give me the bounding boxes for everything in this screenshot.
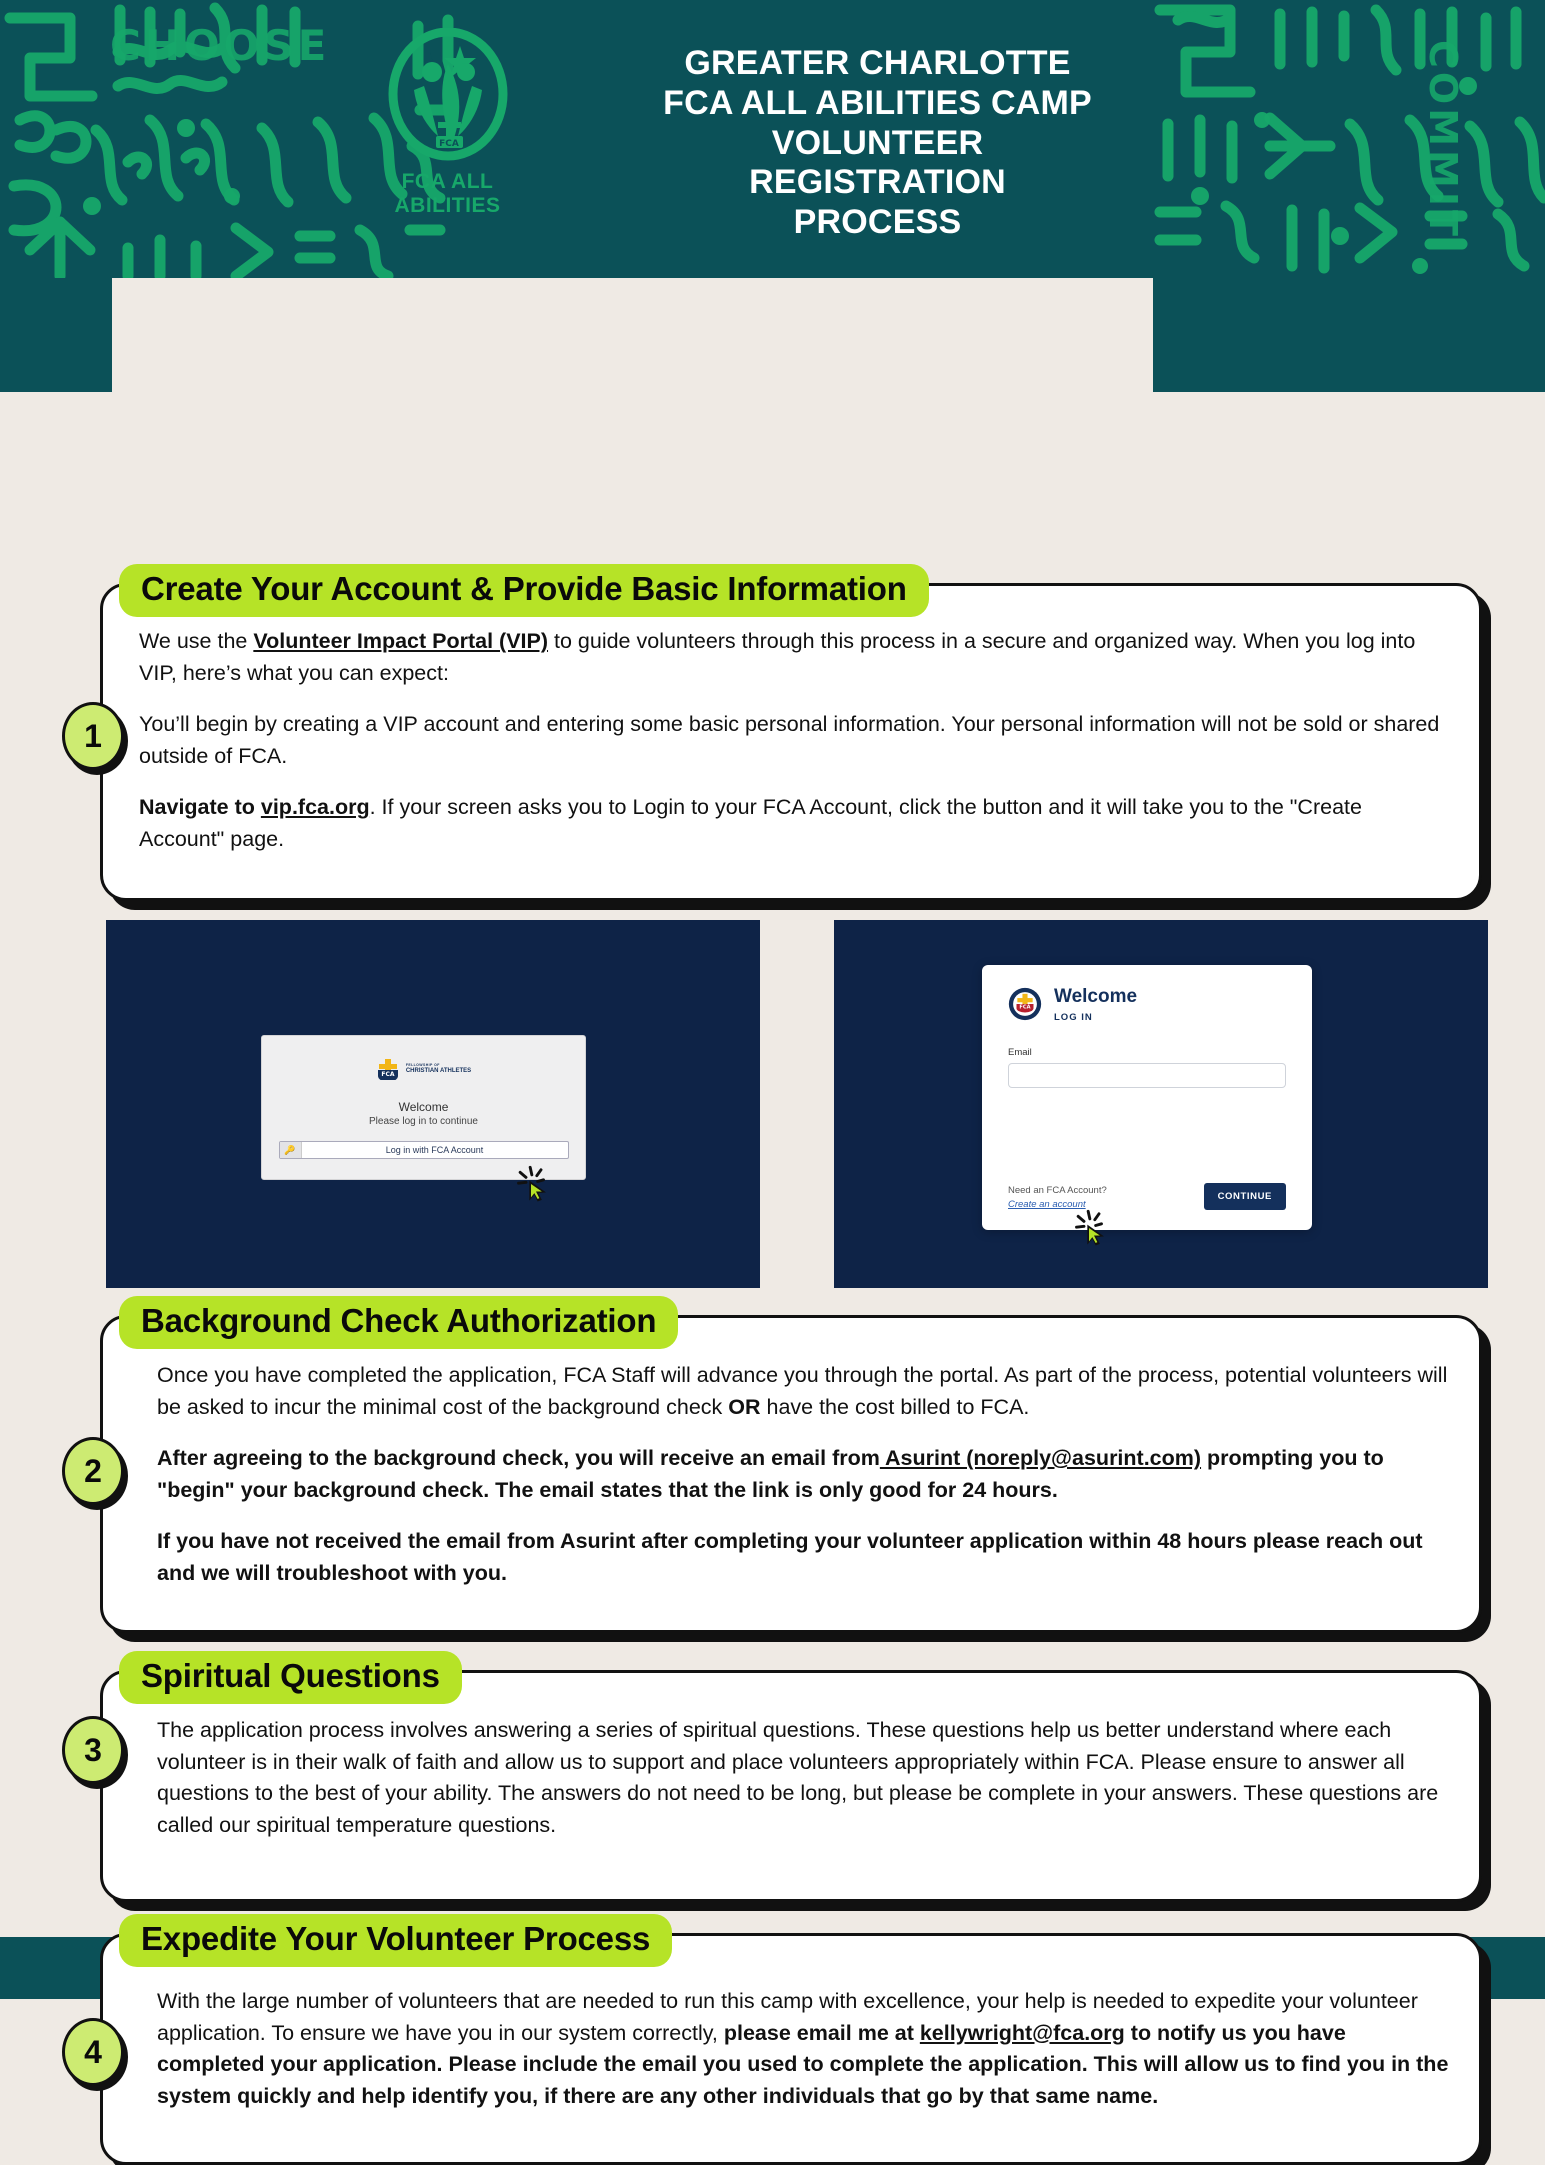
step-2-body: Once you have completed the application,… [103, 1318, 1479, 1612]
fca-login-footer: Need an FCA Account? Create an account C… [1008, 1183, 1286, 1210]
title-line-4: REGISTRATION [558, 163, 1198, 203]
screenshot-fca-account-login: FCA Welcome LOG IN Email Need an FCA Acc… [834, 920, 1488, 1288]
vip-welcome-subtitle: Please log in to continue [369, 1116, 478, 1127]
fca-login-subtitle: LOG IN [1054, 1012, 1137, 1023]
email-input[interactable] [1008, 1063, 1286, 1088]
step-2-paragraph-3: If you have not received the email from … [157, 1526, 1449, 1589]
fca-seal-icon: FCA [1008, 987, 1042, 1021]
key-icon: 🔑 [280, 1142, 302, 1158]
step-2-title: Background Check Authorization [119, 1296, 678, 1349]
page-title: GREATER CHARLOTTE FCA ALL ABILITIES CAMP… [558, 18, 1198, 243]
email-label: Email [1008, 1047, 1286, 1058]
step-card-3: Spiritual Questions The application proc… [100, 1670, 1482, 1902]
step-3-paragraph-1: The application process involves answeri… [157, 1715, 1449, 1841]
step-badge-4: 4 [62, 2018, 124, 2086]
step-1-paragraph-1: We use the Volunteer Impact Portal (VIP)… [139, 626, 1449, 689]
login-button-label: Log in with FCA Account [302, 1145, 568, 1155]
fca-login-welcome: Welcome [1054, 987, 1137, 1006]
step-1-paragraph-3: Navigate to vip.fca.org. If your screen … [139, 792, 1449, 855]
step-1-paragraph-2: You’ll begin by creating a VIP account a… [139, 709, 1449, 772]
fca-logo-small-text: FELLOWSHIP OF CHRISTIAN ATHLETES [406, 1063, 471, 1074]
step-1-title: Create Your Account & Provide Basic Info… [119, 564, 929, 617]
step-2-paragraph-1: Once you have completed the application,… [157, 1360, 1449, 1423]
step-2-paragraph-2: After agreeing to the background check, … [157, 1443, 1449, 1506]
step-1-body: We use the Volunteer Impact Portal (VIP)… [103, 586, 1479, 878]
fca-login-card: FCA Welcome LOG IN Email Need an FCA Acc… [982, 965, 1312, 1230]
logo-wordmark: FCA ALL ABILITIES [348, 170, 548, 218]
fca-login-header: FCA Welcome LOG IN [1008, 987, 1286, 1023]
step-4-title: Expedite Your Volunteer Process [119, 1914, 672, 1967]
need-account-text: Need an FCA Account? [1008, 1185, 1107, 1196]
page-header: CHOOSE COMMIT FCA FCA AL [0, 0, 1545, 278]
step-badge-1: 1 [62, 702, 124, 770]
step-card-4: Expedite Your Volunteer Process With the… [100, 1933, 1482, 2165]
step-3-title: Spiritual Questions [119, 1651, 462, 1704]
fca-logo-small-main: CHRISTIAN ATHLETES [406, 1068, 471, 1074]
title-line-1: GREATER CHARLOTTE [558, 44, 1198, 84]
svg-text:FCA: FCA [439, 139, 459, 149]
title-line-2: FCA ALL ABILITIES CAMP [558, 84, 1198, 124]
vip-welcome-heading: Welcome [399, 1100, 449, 1114]
step-badge-2: 2 [62, 1437, 124, 1505]
header-teal-extension-right [1153, 278, 1545, 392]
continue-button[interactable]: CONTINUE [1204, 1183, 1286, 1210]
fca-all-abilities-logo: FCA FCA ALL ABILITIES [348, 28, 548, 218]
svg-text:FCA: FCA [381, 1071, 395, 1078]
login-with-fca-account-button[interactable]: 🔑 Log in with FCA Account [279, 1141, 569, 1159]
header-teal-extension-left [0, 278, 112, 392]
step-badge-3: 3 [62, 1716, 124, 1784]
fca-shield-icon: FCA [376, 1058, 402, 1080]
create-an-account-link[interactable]: Create an account [1008, 1199, 1107, 1210]
step-card-2: Background Check Authorization Once you … [100, 1315, 1482, 1633]
title-line-5: PROCESS [558, 203, 1198, 243]
title-line-3: VOLUNTEER [558, 124, 1198, 164]
fca-abilities-mark-icon: FCA [368, 28, 528, 168]
screenshot-vip-login: FCA FELLOWSHIP OF CHRISTIAN ATHLETES Wel… [106, 920, 760, 1288]
svg-text:FCA: FCA [1019, 1004, 1030, 1010]
vip-login-card: FCA FELLOWSHIP OF CHRISTIAN ATHLETES Wel… [261, 1035, 586, 1180]
step-card-1: Create Your Account & Provide Basic Info… [100, 583, 1482, 901]
fca-logo-small: FCA FELLOWSHIP OF CHRISTIAN ATHLETES [376, 1058, 471, 1080]
step-4-paragraph-1: With the large number of volunteers that… [157, 1986, 1449, 2112]
